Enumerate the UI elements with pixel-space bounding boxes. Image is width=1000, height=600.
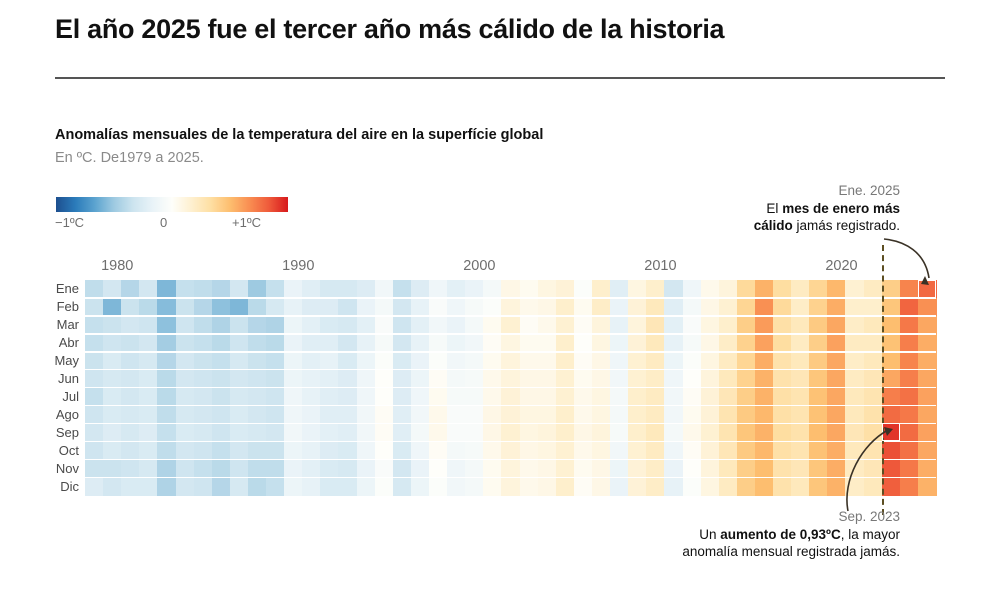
infographic-page: El año 2025 fue el tercer año más cálido… — [0, 0, 1000, 600]
arrow-head-jan-2025 — [921, 276, 929, 285]
annotation-arrows — [0, 0, 1000, 600]
arrow-path-sep-2023 — [847, 430, 888, 511]
arrow-path-jan-2025 — [884, 239, 929, 278]
